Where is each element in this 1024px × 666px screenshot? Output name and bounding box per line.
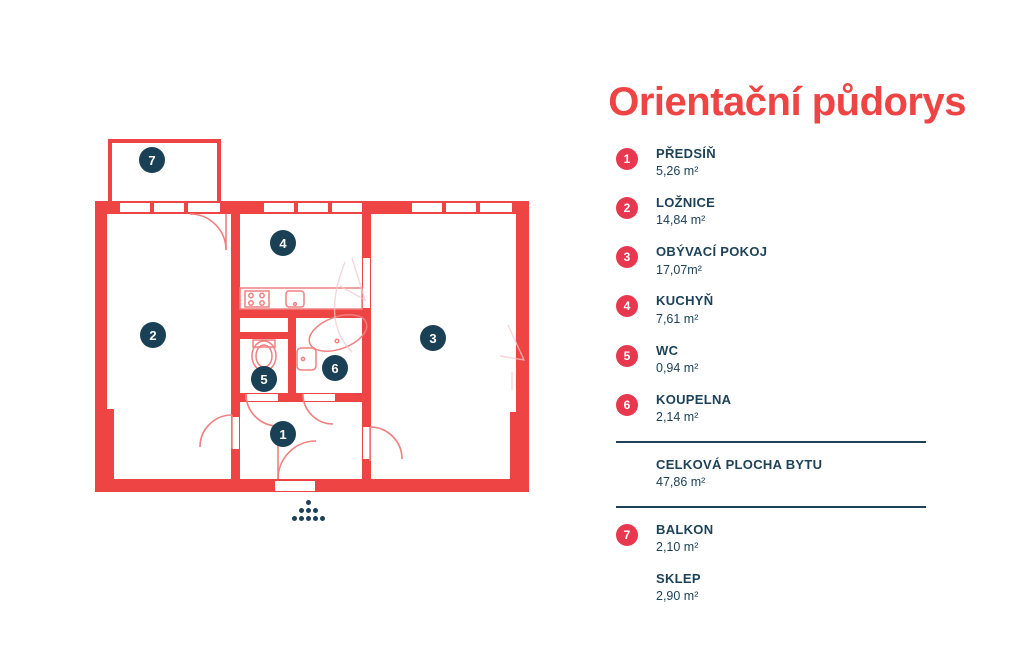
legend-room-area: 2,14 m² [656, 409, 988, 426]
legend-badge-2: 2 [616, 197, 638, 219]
legend-room-name: KUCHYŇ [656, 293, 988, 309]
legend-panel: Orientační půdorys 1 PŘEDSÍŇ 5,26 m² 2 L… [548, 68, 988, 628]
legend-item-kuchyn: 4 KUCHYŇ 7,61 m² [608, 293, 988, 327]
plan-marker-balcony: 7 [139, 147, 165, 173]
plan-marker-living-room: 3 [420, 325, 446, 351]
legend-item-wc: 5 WC 0,94 m² [608, 343, 988, 377]
legend-item-koupelna: 6 KOUPELNA 2,14 m² [608, 392, 988, 426]
legend-room-name: OBÝVACÍ POKOJ [656, 244, 988, 260]
page-title: Orientační půdorys [608, 80, 966, 125]
legend-badge-5: 5 [616, 345, 638, 367]
legend-badge-4: 4 [616, 295, 638, 317]
legend-divider-top [616, 441, 926, 443]
legend-room-area: 2,10 m² [656, 539, 988, 556]
legend-item-obyvaci-pokoj: 3 OBÝVACÍ POKOJ 17,07m² [608, 244, 988, 278]
legend-item-predsin: 1 PŘEDSÍŇ 5,26 m² [608, 146, 988, 180]
floor-plan-svg [0, 0, 560, 666]
kitchen-fixtures [240, 288, 362, 309]
legend-room-name: LOŽNICE [656, 195, 988, 211]
legend-item-loznice: 2 LOŽNICE 14,84 m² [608, 195, 988, 229]
legend-badge-7: 7 [616, 524, 638, 546]
plan-marker-hallway: 1 [270, 421, 296, 447]
legend-badge-3: 3 [616, 246, 638, 268]
legend-room-area: 7,61 m² [656, 311, 988, 328]
floor-plan-drawing: 7 4 2 3 5 6 1 [0, 0, 560, 666]
dot-logo-mark [286, 500, 332, 526]
legend-total-name: CELKOVÁ PLOCHA BYTU [656, 457, 988, 473]
legend-room-name: SKLEP [656, 571, 988, 587]
plan-marker-bedroom: 2 [140, 322, 166, 348]
legend-room-area: 5,26 m² [656, 163, 988, 180]
legend-item-total: CELKOVÁ PLOCHA BYTU 47,86 m² [608, 457, 988, 491]
legend-badge-6: 6 [616, 394, 638, 416]
legend-room-name: KOUPELNA [656, 392, 988, 408]
legend-item-sklep: SKLEP 2,90 m² [608, 571, 988, 605]
window-openings [120, 203, 512, 212]
legend-room-area: 0,94 m² [656, 360, 988, 377]
legend-divider-bottom [616, 506, 926, 508]
legend-list: 1 PŘEDSÍŇ 5,26 m² 2 LOŽNICE 14,84 m² 3 O… [608, 146, 988, 620]
legend-room-area: 14,84 m² [656, 212, 988, 229]
legend-badge-1: 1 [616, 148, 638, 170]
legend-total-area: 47,86 m² [656, 474, 988, 491]
legend-room-name: BALKON [656, 522, 988, 538]
legend-room-name: PŘEDSÍŇ [656, 146, 988, 162]
plan-marker-bathroom: 6 [322, 355, 348, 381]
floor-plan-page: 7 4 2 3 5 6 1 Orientační půdorys 1 PŘEDS… [0, 0, 1024, 666]
plan-marker-wc: 5 [251, 366, 277, 392]
legend-room-area: 2,90 m² [656, 588, 988, 605]
legend-room-name: WC [656, 343, 988, 359]
balcony-outline [110, 141, 219, 203]
legend-room-area: 17,07m² [656, 262, 988, 279]
legend-item-balkon: 7 BALKON 2,10 m² [608, 522, 988, 556]
plan-marker-kitchen: 4 [270, 230, 296, 256]
